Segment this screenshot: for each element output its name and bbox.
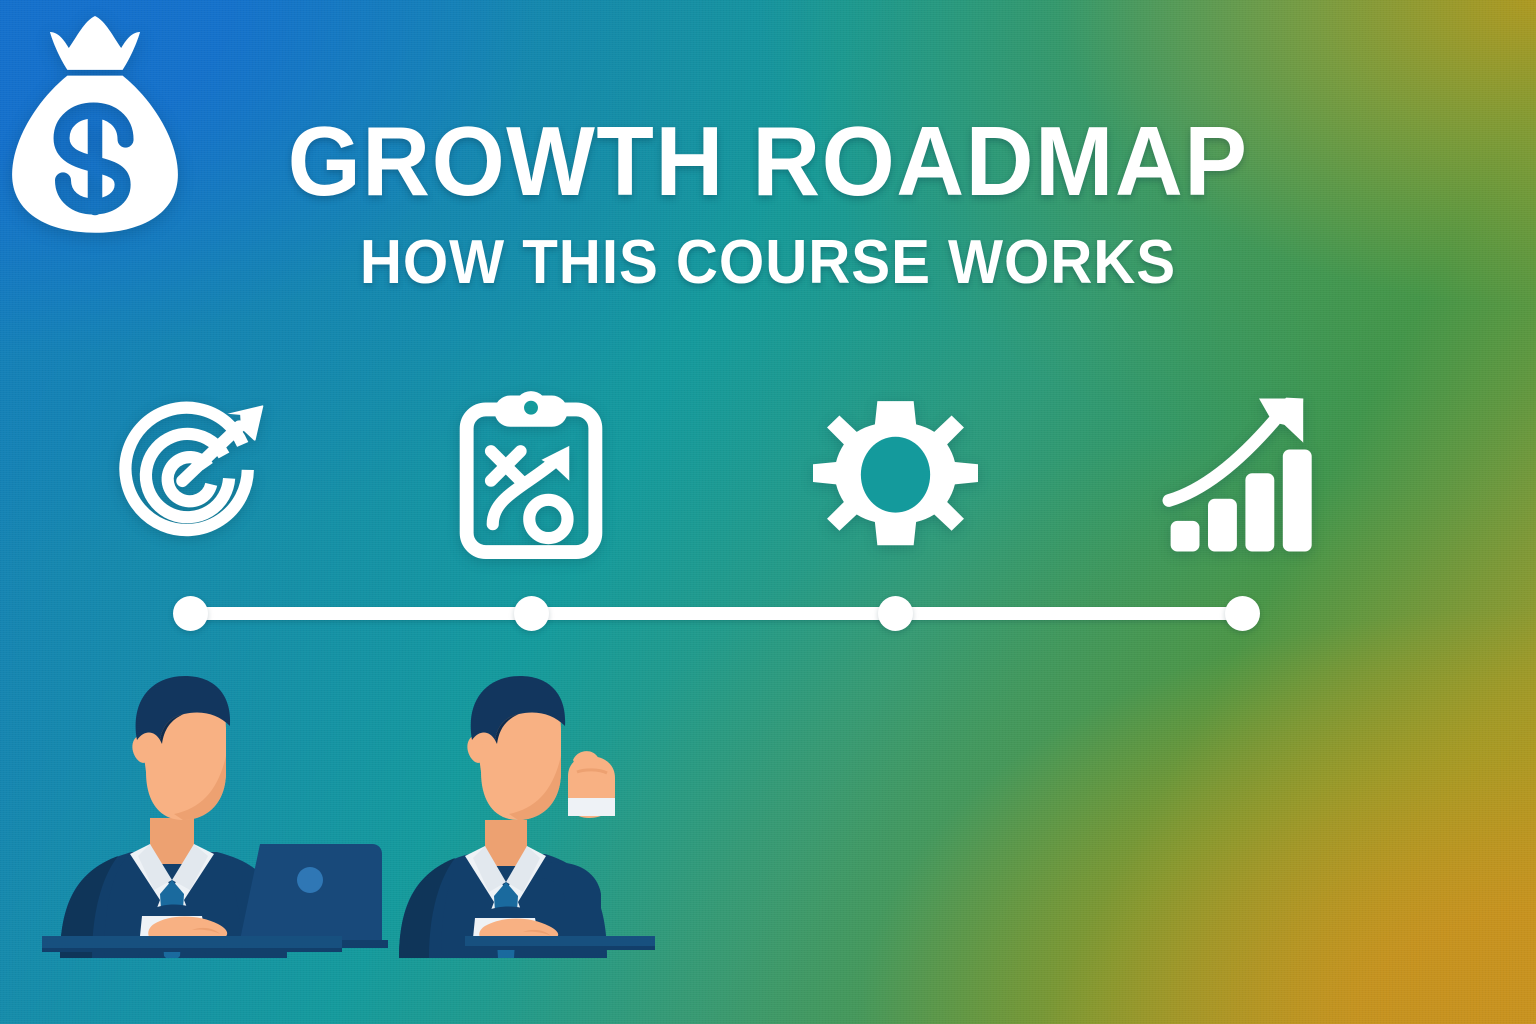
roadmap-timeline <box>0 592 1536 636</box>
timeline-bar <box>190 607 1242 620</box>
page-title: GROWTH ROADMAP <box>31 112 1506 210</box>
target-icon <box>105 390 275 560</box>
timeline-node-4[interactable] <box>1225 596 1260 631</box>
timeline-node-1[interactable] <box>173 596 208 631</box>
timeline-node-2[interactable] <box>514 596 549 631</box>
money-bag <box>0 0 190 240</box>
money-bag-icon <box>0 0 190 240</box>
roadmap-step-target[interactable] <box>95 380 285 570</box>
strategy-icon <box>451 388 611 563</box>
roadmap-step-growth[interactable] <box>1147 380 1337 570</box>
roadmap-step-execution[interactable] <box>800 380 990 570</box>
roadmap-icon-row <box>0 380 1536 570</box>
page-subtitle: HOW THIS COURSE WORKS <box>46 232 1490 294</box>
roadmap-step-strategy[interactable] <box>436 380 626 570</box>
illustration-businessman-celebrating <box>385 668 655 958</box>
businessman-laptop-illustration <box>42 668 392 958</box>
illustration-businessman-with-laptop <box>42 668 392 958</box>
businessman-fist-illustration <box>385 668 655 958</box>
heading-block: GROWTH ROADMAP HOW THIS COURSE WORKS <box>0 112 1536 294</box>
gear-icon <box>813 393 978 558</box>
slide-canvas: GROWTH ROADMAP HOW THIS COURSE WORKS <box>0 0 1536 1024</box>
growth-chart-icon <box>1157 390 1327 560</box>
timeline-node-3[interactable] <box>878 596 913 631</box>
